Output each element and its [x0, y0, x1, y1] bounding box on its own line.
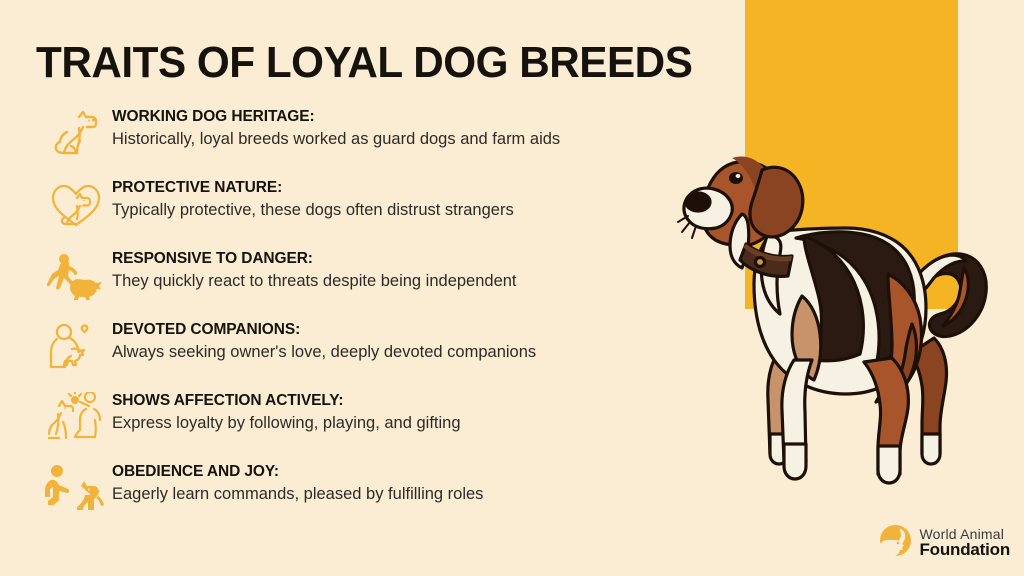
trait-description: They quickly react to threats despite be… — [112, 270, 517, 294]
trait-text: RESPONSIVE TO DANGER: They quickly react… — [112, 246, 517, 294]
person-hugging-dog-icon — [40, 317, 112, 371]
trait-description: Express loyalty by following, playing, a… — [112, 412, 461, 436]
list-item: RESPONSIVE TO DANGER: They quickly react… — [40, 246, 720, 317]
trait-text: WORKING DOG HERITAGE: Historically, loya… — [112, 104, 560, 152]
list-item: DEVOTED COMPANIONS: Always seeking owner… — [40, 317, 720, 388]
trait-text: DEVOTED COMPANIONS: Always seeking owner… — [112, 317, 536, 365]
list-item: SHOWS AFFECTION ACTIVELY: Express loyalt… — [40, 388, 720, 459]
trait-heading: SHOWS AFFECTION ACTIVELY: — [112, 391, 461, 410]
trait-heading: RESPONSIVE TO DANGER: — [112, 249, 517, 268]
person-training-dog-icon — [40, 459, 112, 513]
trait-text: SHOWS AFFECTION ACTIVELY: Express loyalt… — [112, 388, 461, 436]
trait-heading: DEVOTED COMPANIONS: — [112, 320, 536, 339]
logo-line-two: Foundation — [919, 541, 1010, 558]
trait-heading: WORKING DOG HERITAGE: — [112, 107, 560, 126]
list-item: OBEDIENCE AND JOY: Eagerly learn command… — [40, 459, 720, 530]
traits-list: WORKING DOG HERITAGE: Historically, loya… — [40, 104, 720, 530]
sitting-dog-icon — [40, 104, 112, 158]
logo-text: World Animal Foundation — [919, 527, 1010, 559]
trait-description: Eagerly learn commands, pleased by fulfi… — [112, 483, 483, 507]
infographic-poster: TRAITS OF LOYAL DOG BREEDS W — [0, 0, 1024, 576]
trait-description: Typically protective, these dogs often d… — [112, 199, 514, 223]
trait-heading: PROTECTIVE NATURE: — [112, 178, 514, 197]
dog-in-heart-icon — [40, 175, 112, 229]
trait-description: Historically, loyal breeds worked as gua… — [112, 128, 560, 152]
person-playing-ball-with-dog-icon — [40, 388, 112, 442]
trait-heading: OBEDIENCE AND JOY: — [112, 462, 483, 481]
trait-text: OBEDIENCE AND JOY: Eagerly learn command… — [112, 459, 483, 507]
trait-description: Always seeking owner's love, deeply devo… — [112, 341, 536, 365]
list-item: WORKING DOG HERITAGE: Historically, loya… — [40, 104, 720, 175]
person-fleeing-dog-icon — [40, 246, 112, 300]
world-animal-foundation-logo: World Animal Foundation — [879, 524, 1010, 562]
standing-hound-dog-illustration — [676, 128, 1024, 508]
page-title: TRAITS OF LOYAL DOG BREEDS — [36, 38, 692, 88]
world-animal-foundation-dog-logo-icon — [879, 524, 912, 562]
logo-line-one: World Animal — [919, 527, 1010, 541]
trait-text: PROTECTIVE NATURE: Typically protective,… — [112, 175, 514, 223]
list-item: PROTECTIVE NATURE: Typically protective,… — [40, 175, 720, 246]
